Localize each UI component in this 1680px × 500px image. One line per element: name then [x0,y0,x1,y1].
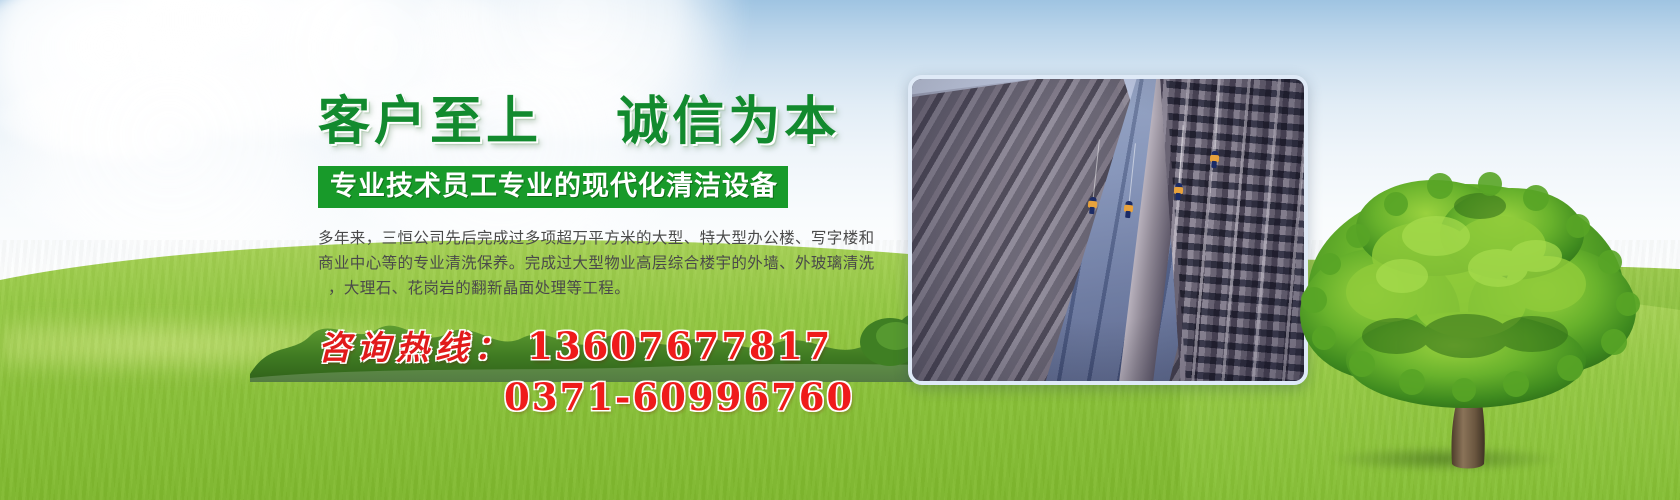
hotline-landline-number[interactable]: 0371-60996760 [318,375,918,419]
page-title: 客户至上 诚信为本 [318,92,918,152]
promo-banner: 客户至上 诚信为本 专业技术员工专业的现代化清洁设备 多年来，三恒公司先后完成过… [0,0,1680,500]
hotline-row: 咨询热线：13607677817 [318,321,918,369]
hotline-mobile-number[interactable]: 13607677817 [527,324,832,368]
subtitle-bar: 专业技术员工专业的现代化清洁设备 [318,166,788,209]
paragraph-line: 多年来，三恒公司先后完成过多项超万平方米的大型、特大型办公楼、写字楼和 [318,226,888,251]
hotline-label: 咨询热线： [318,328,513,367]
copy-block: 客户至上 诚信为本 专业技术员工专业的现代化清洁设备 多年来，三恒公司先后完成过… [318,92,918,419]
photo-vignette [912,79,1304,381]
paragraph-line: 商业中心等的专业清洗保养。完成过大型物业高层综合楼宇的外墙、外玻璃清洗 [318,251,888,276]
headline-part-2: 诚信为本 [616,91,840,152]
cloud-shadow [95,0,355,95]
paragraph-line: ，大理石、花岗岩的翻新晶面处理等工程。 [318,276,888,301]
description-paragraph: 多年来，三恒公司先后完成过多项超万平方米的大型、特大型办公楼、写字楼和 商业中心… [318,226,888,301]
tree-illustration [1284,164,1644,494]
headline-part-1: 客户至上 [318,91,542,152]
building-photo [912,79,1304,381]
building-photo-card [908,75,1308,385]
